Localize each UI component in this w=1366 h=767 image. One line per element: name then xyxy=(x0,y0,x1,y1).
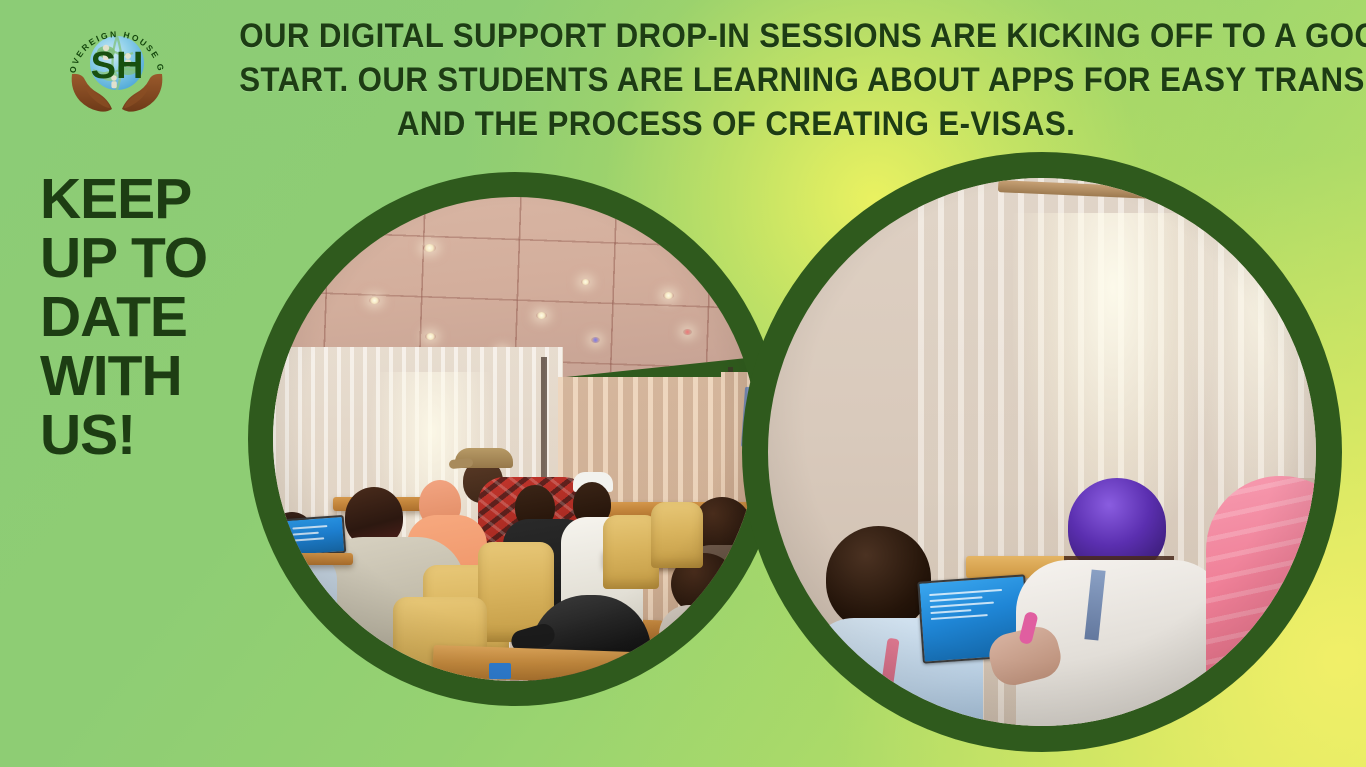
ceiling-light-red xyxy=(683,329,692,335)
headline: OUR DIGITAL SUPPORT DROP-IN SESSIONS ARE… xyxy=(239,14,1233,146)
ceiling-light xyxy=(536,312,547,319)
slogan-line-3: DATE xyxy=(40,288,240,347)
logo-artwork: SH SOVEREIGN HOUSE GH xyxy=(62,8,172,120)
headline-line-3: AND THE PROCESS OF CREATING E-VISAS. xyxy=(239,102,1233,146)
ceiling-light xyxy=(425,333,436,340)
laptop xyxy=(284,515,347,557)
poster-canvas: SH SOVEREIGN HOUSE GH OUR DIGITAL SUPPOR… xyxy=(0,0,1366,767)
desk xyxy=(273,553,353,565)
slogan-line-1: KEEP xyxy=(40,170,240,229)
logo-monogram: SH xyxy=(91,45,144,87)
photo-circle-left[interactable] xyxy=(248,172,782,706)
ceiling-light-blue xyxy=(591,337,600,343)
sovereign-house-logo[interactable]: SH SOVEREIGN HOUSE GH xyxy=(62,8,172,120)
slogan-line-4: WITH xyxy=(40,347,240,406)
photo-left-image xyxy=(273,197,757,681)
photo-right-image xyxy=(768,178,1316,726)
ceiling-light xyxy=(663,292,674,299)
phone xyxy=(489,663,511,679)
slogan-line-2: UP TO xyxy=(40,229,240,288)
headline-line-2: START. OUR STUDENTS ARE LEARNING ABOUT A… xyxy=(239,58,1233,102)
ceiling-light xyxy=(423,244,436,252)
keep-up-to-date-slogan: KEEP UP TO DATE WITH US! xyxy=(40,170,240,465)
ceiling-light xyxy=(369,297,380,304)
chair xyxy=(651,502,703,568)
headline-line-1: OUR DIGITAL SUPPORT DROP-IN SESSIONS ARE… xyxy=(239,14,1233,58)
photo-circle-right[interactable] xyxy=(742,152,1342,752)
slogan-line-5: US! xyxy=(40,406,240,465)
ceiling-light xyxy=(581,279,590,285)
